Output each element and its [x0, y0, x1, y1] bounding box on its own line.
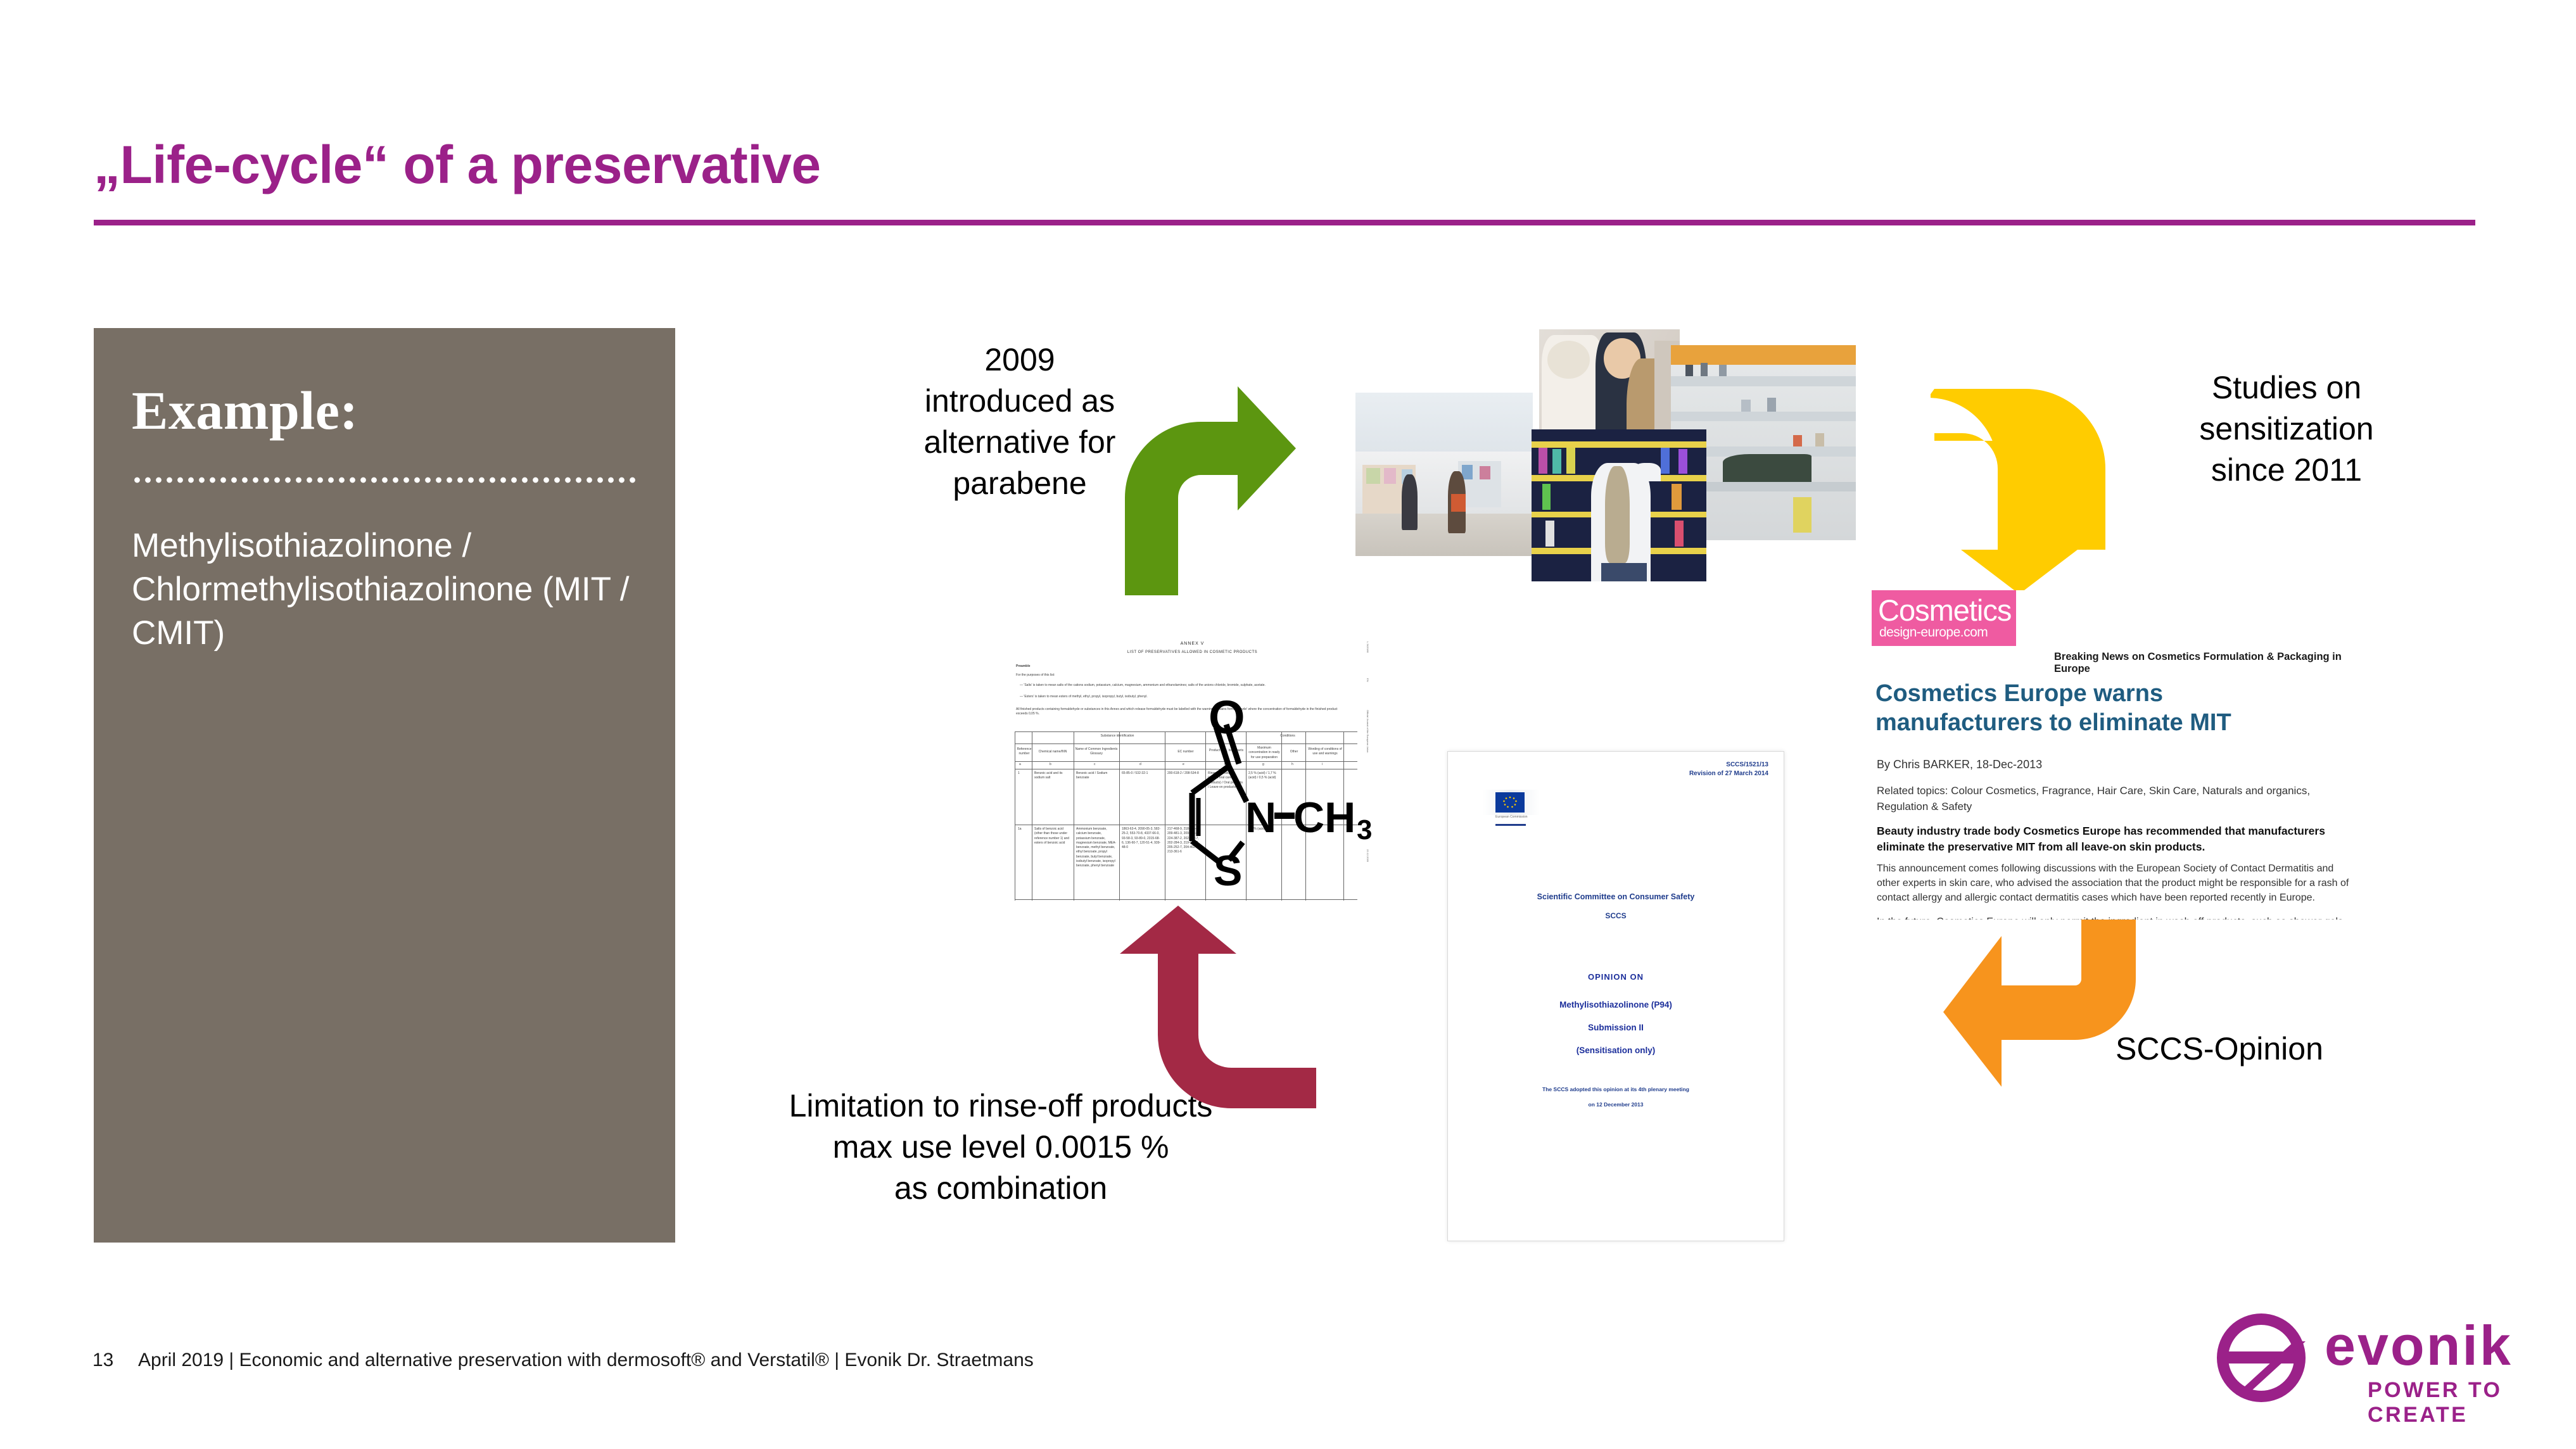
curved-arrow-up-icon [1120, 906, 1316, 1108]
example-substance-name: Methylisothiazolinone / Chlormethylisoth… [132, 524, 664, 655]
page-title: „Life-cycle“ of a preservative [94, 134, 821, 196]
annex-col-2: Name of Common Ingredients Glossary [1075, 747, 1118, 757]
curved-arrow-left-icon [1938, 906, 2141, 1096]
sccs-revision-date: Revision of 27 March 2014 [1689, 769, 1768, 778]
annex-row-1-ref: 1a [1018, 827, 1022, 832]
sccs-scope: (Sensitisation only) [1448, 1046, 1784, 1055]
caption-sensitization-studies: Studies on sensitization since 2011 [2109, 367, 2464, 491]
annex-colindex-2: c [1094, 762, 1096, 767]
european-commission-logo: European Commission [1483, 790, 1541, 829]
sccs-reference-block: SCCS/1521/13 Revision of 27 March 2014 [1689, 761, 1768, 778]
sccs-adoption-date: on 12 December 2013 [1448, 1101, 1784, 1108]
eu-flag-icon [1495, 792, 1525, 813]
sccs-committee-name: Scientific Committee on Consumer Safety [1448, 892, 1784, 901]
news-paragraph-2: In the future, Cosmetics Europe will onl… [1877, 914, 2355, 920]
isothiazolinone-ring-svg [1134, 684, 1387, 899]
eu-logo-caption: European Commission [1495, 815, 1528, 819]
annex-preamble-line-0: For the purposes of this list: [1016, 673, 1345, 678]
slide-page-number: 13 [92, 1350, 113, 1371]
annex-colindex-1: b [1050, 762, 1051, 767]
drugstore-aisle-photo [1355, 393, 1533, 556]
annex-row-1-glossary-name: Ammonium benzoate, calcium benzoate, pot… [1076, 827, 1117, 868]
curved-arrow-down-icon [1931, 380, 2121, 595]
cosmetics-design-europe-logo: Cosmetics design-europe.com [1872, 590, 2016, 646]
annex-colindex-0: a [1019, 762, 1021, 767]
evonik-wordmark: evonik [2325, 1313, 2513, 1378]
example-heading: Example: [132, 379, 358, 442]
annex-subtitle: LIST OF PRESERVATIVES ALLOWED IN COSMETI… [1013, 650, 1371, 654]
news-related-topics: Related topics: Colour Cosmetics, Fragra… [1877, 783, 2345, 814]
evonik-mark-icon [2211, 1307, 2312, 1408]
atom-sulfur: S [1214, 846, 1242, 895]
logo-sub-text: design-europe.com [1879, 625, 1988, 640]
annex-side-label-1: EN [1366, 678, 1369, 682]
sccs-opinion-document: SCCS/1521/13 Revision of 27 March 2014 E… [1447, 751, 1784, 1241]
news-byline: By Chris BARKER, 18-Dec-2013 [1877, 758, 2042, 771]
atom-methyl-subscript: 3 [1357, 814, 1372, 846]
news-paragraph-1: This announcement comes following discus… [1877, 861, 2355, 906]
evonik-tagline: POWER TO CREATE [2368, 1378, 2553, 1427]
news-lead-paragraph: Beauty industry trade body Cosmetics Eur… [1877, 823, 2333, 856]
atom-nitrogen: N [1245, 793, 1276, 842]
annex-row-0-ref: 1 [1018, 771, 1020, 776]
annex-title: ANNEX V [1013, 642, 1371, 646]
eu-logo-underline [1495, 824, 1526, 826]
annex-row-1-chemical-name: Salts of benzoic acid (other than those … [1034, 827, 1071, 845]
woman-at-shelf-photo [1532, 429, 1706, 581]
news-headline: Cosmetics Europe warns manufacturers to … [1875, 679, 2319, 738]
sccs-reference-number: SCCS/1521/13 [1689, 761, 1768, 769]
news-tagline: Breaking News on Cosmetics Formulation &… [2054, 651, 2375, 675]
cosmetics-design-europe-article: Cosmetics design-europe.com Breaking New… [1872, 590, 2375, 920]
example-panel: Example: Methylisothiazolinone / Chlorme… [94, 328, 675, 1243]
dotted-divider [132, 477, 638, 483]
annex-row-0-chemical-name: Benzoic acid and its sodium salt [1034, 771, 1071, 781]
curved-arrow-right-icon [1114, 380, 1297, 595]
atom-methyl: CH [1293, 793, 1355, 842]
annex-col-1: Chemical name/INN [1033, 750, 1072, 754]
slide-footer-text: April 2019 | Economic and alternative pr… [138, 1350, 1034, 1371]
atom-oxygen: O [1209, 690, 1245, 744]
sccs-adoption-line: The SCCS adopted this opinion at its 4th… [1448, 1086, 1784, 1092]
evonik-logo: evonik POWER TO CREATE [2211, 1303, 2553, 1417]
retail-photo-collage [1355, 329, 1856, 583]
annex-preamble-heading: Preamble [1016, 664, 1031, 669]
annex-side-label-0: L 342/166 [1366, 642, 1369, 653]
sccs-opinion-label: OPINION ON [1448, 972, 1784, 982]
sccs-acronym: SCCS [1448, 911, 1784, 920]
logo-main-text: Cosmetics [1878, 593, 2011, 628]
caption-sccs-opinion: SCCS-Opinion [2116, 1028, 2458, 1070]
sccs-subject: Methylisothiazolinone (P94) [1448, 1000, 1784, 1009]
mit-chemical-structure: O N CH 3 S [1134, 684, 1387, 899]
sccs-submission: Submission II [1448, 1023, 1784, 1032]
title-underline-rule [94, 220, 2475, 225]
annex-row-0-glossary-name: Benzoic acid / Sodium benzoate [1076, 771, 1117, 781]
annex-col-0: Reference number [1017, 747, 1032, 757]
